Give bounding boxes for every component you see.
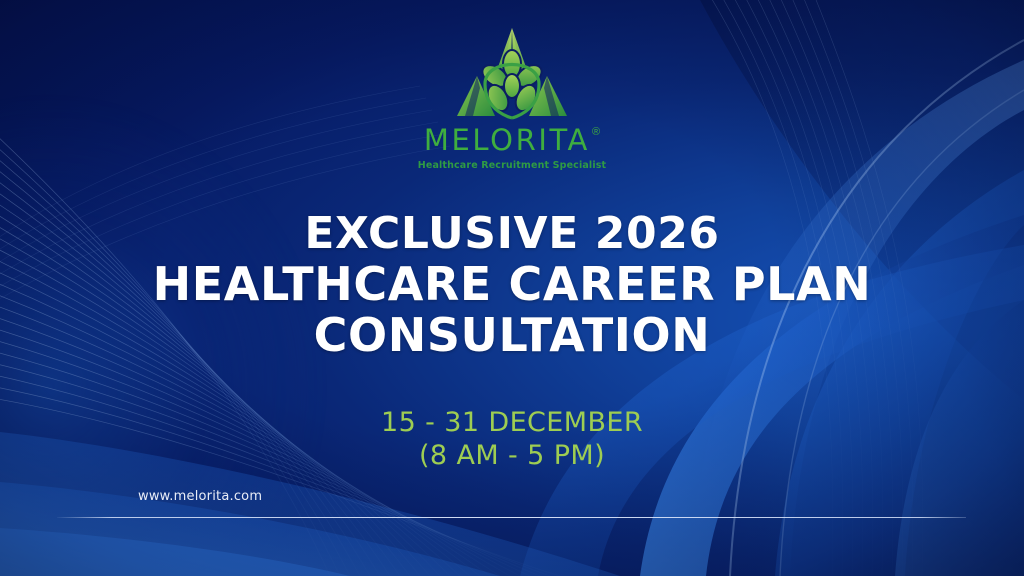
promo-banner: MELORITA ® Healthcare Recruitment Specia… (0, 0, 1024, 576)
footer-divider (57, 517, 966, 518)
schedule-block: 15 - 31 DECEMBER (8 AM - 5 PM) (0, 406, 1024, 472)
page-title: EXCLUSIVE 2026 HEALTHCARE CAREER PLAN CO… (0, 208, 1024, 361)
brand-wordmark: MELORITA (424, 126, 590, 155)
headline-line-1: EXCLUSIVE 2026 (0, 208, 1024, 259)
headline-line-2: HEALTHCARE CAREER PLAN (0, 259, 1024, 310)
brand-tagline: Healthcare Recruitment Specialist (418, 160, 606, 171)
schedule-hours: (8 AM - 5 PM) (0, 439, 1024, 472)
melorita-triangle-leaf-emblem-icon (451, 24, 573, 124)
headline-line-3: CONSULTATION (0, 310, 1024, 361)
brand-logo: MELORITA ® Healthcare Recruitment Specia… (0, 24, 1024, 171)
website-url[interactable]: www.melorita.com (138, 489, 262, 504)
schedule-dates: 15 - 31 DECEMBER (0, 406, 1024, 439)
brand-wordmark-row: MELORITA ® (424, 126, 600, 155)
registered-trademark-icon: ® (592, 127, 600, 138)
